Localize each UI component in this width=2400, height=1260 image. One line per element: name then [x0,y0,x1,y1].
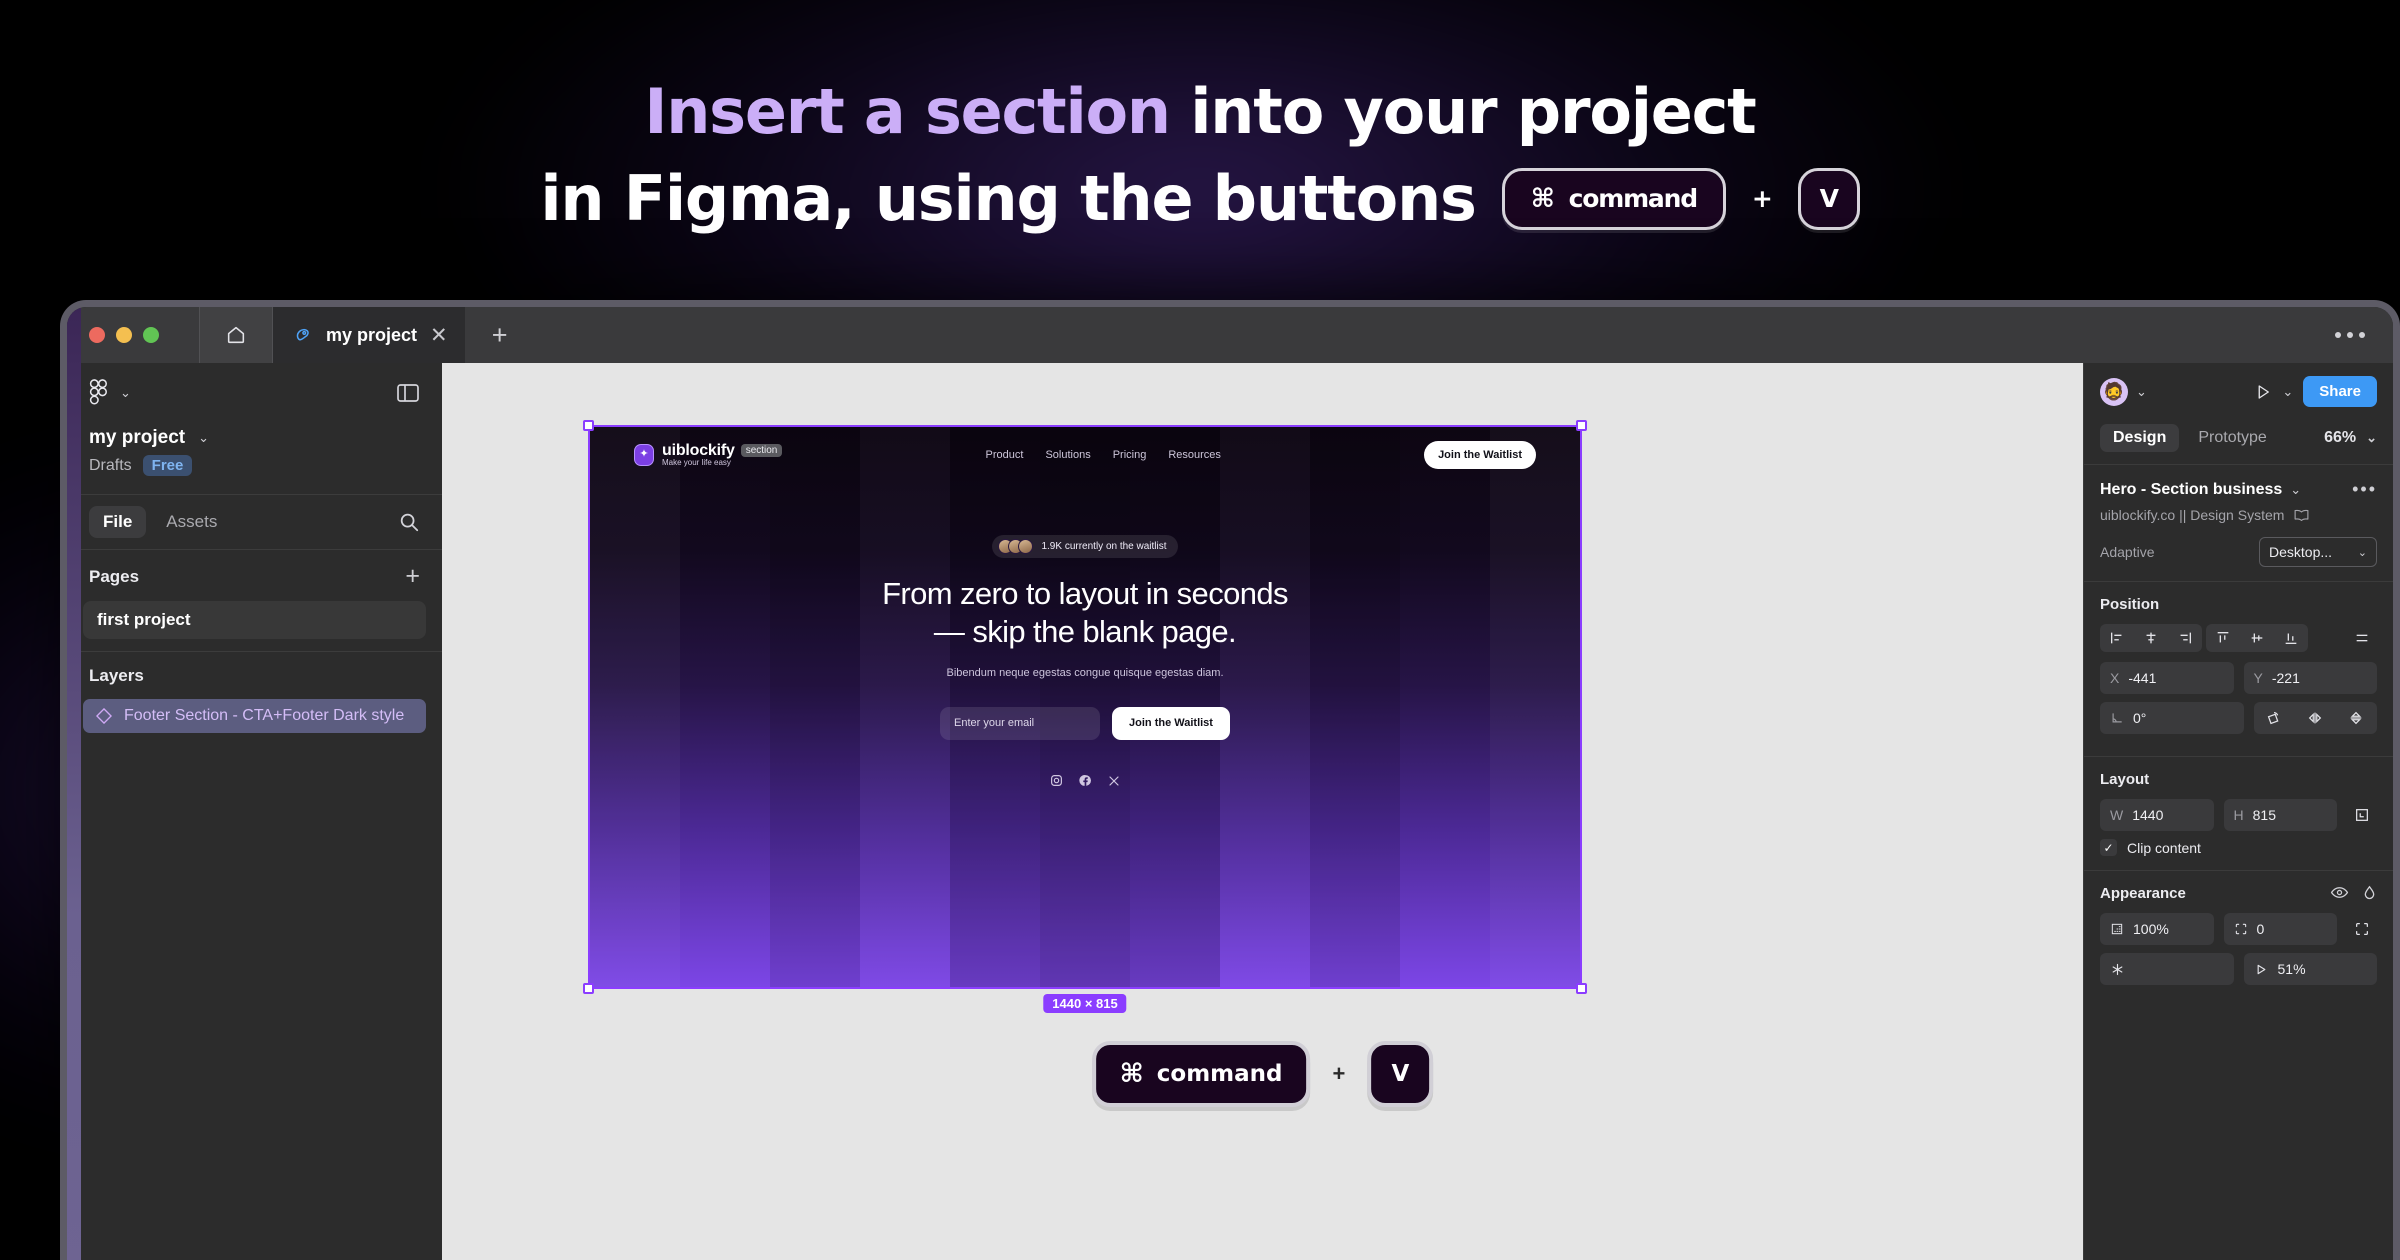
avatar: 🧔 [2100,378,2128,406]
distribute-icon[interactable] [2347,624,2377,652]
hero-kbd-command-label: command [1569,182,1697,216]
adaptive-label: Adaptive [2100,544,2154,560]
close-icon[interactable]: ✕ [430,325,448,346]
frame-brand[interactable]: ✦ uiblockify section Make your life easy [634,442,782,469]
drafts-label: Drafts [89,457,132,475]
position-section: Position [2084,582,2393,756]
waitlist-pill: 1.9K currently on the waitlist [992,535,1177,558]
clip-content-row[interactable]: ✓ Clip content [2100,839,2377,856]
appearance-header: Appearance [2100,885,2377,902]
resize-handle-bottom-right[interactable] [1576,983,1587,994]
effects-icon [2254,962,2269,977]
nav-link-pricing[interactable]: Pricing [1113,449,1147,461]
adaptive-row: Adaptive Desktop... ⌄ [2100,537,2377,567]
corner-radius-icon [2234,922,2248,936]
frame-social-links [590,774,1580,792]
headline-line-1: Insert a section into your project [0,70,2400,153]
height-value: 815 [2253,807,2276,823]
add-page-button[interactable]: + [405,564,420,589]
x-icon[interactable] [1108,774,1120,792]
x-value: -441 [2128,670,2156,686]
appearance-section: Appearance 100% 0 [2084,871,2393,1007]
frame-headline-line1: From zero to layout in seconds [882,576,1288,611]
app-body: ⌄ my project ⌄ Drafts Free [67,363,2393,1260]
layout-section: Layout W 1440 H 815 [2084,757,2393,870]
new-tab-button[interactable]: + [465,307,535,363]
more-horizontal-icon[interactable] [2307,307,2393,363]
hero-kbd-plus: + [1752,182,1772,216]
chevron-down-icon: ⌄ [120,385,131,401]
clip-content-checkbox[interactable]: ✓ [2100,839,2117,856]
blend-drop-icon[interactable] [2362,885,2377,902]
zoom-level: 66% [2324,429,2356,447]
rotation-row: 0° [2100,702,2377,734]
rotation-field[interactable]: 0° [2100,702,2244,734]
align-toolbar [2100,624,2377,652]
adaptive-value: Desktop... [2269,544,2332,560]
opacity-row: 100% 0 [2100,913,2377,945]
frame-nav-cta-button[interactable]: Join the Waitlist [1424,441,1536,469]
appearance-actions [2330,885,2377,902]
headline-accent: Insert a section [644,75,1170,148]
titlebar-spacer [535,307,2307,363]
position-title: Position [2100,596,2377,613]
project-meta: Drafts Free [89,455,420,476]
opacity-field[interactable]: 100% [2100,913,2214,945]
zoom-control[interactable]: 66% ⌄ [2324,429,2377,447]
frame-size-badge: 1440 × 815 [1043,994,1126,1013]
waitlist-avatars [998,539,1033,554]
window-titlebar: my project ✕ + [67,307,2393,363]
figma-logo-icon [89,379,109,407]
blend-mode-field[interactable] [2100,953,2234,985]
layer-label: Footer Section - CTA+Footer Dark style [124,707,404,725]
play-icon[interactable] [2254,383,2272,401]
frame-nav-links: Product Solutions Pricing Resources [782,449,1424,461]
y-value: -221 [2272,670,2300,686]
frame-headline-line2: — skip the blank page. [934,614,1236,649]
eye-icon[interactable] [2330,885,2349,900]
frame-navbar: ✦ uiblockify section Make your life easy [590,427,1580,483]
canvas-kbd-command[interactable]: ⌘ command [1092,1041,1311,1107]
waitlist-count-label: 1.9K currently on the waitlist [1041,541,1166,552]
headline-line-2: in Figma, using the buttons ⌘ command + … [0,157,2400,240]
height-field[interactable]: H 815 [2224,799,2338,831]
brand-row: uiblockify section [662,442,782,460]
project-info: my project ⌄ Drafts Free [67,419,442,494]
hero-section-frame[interactable]: ✦ uiblockify section Make your life easy [590,427,1580,987]
width-field[interactable]: W 1440 [2100,799,2214,831]
corner-radius-field[interactable]: 0 [2224,913,2338,945]
brand-name: uiblockify [662,442,735,460]
chevron-down-icon: ⌄ [2136,384,2147,400]
figma-file-icon [293,325,313,345]
resize-handle-top-left[interactable] [583,420,594,431]
chevron-down-icon: ⌄ [2358,546,2367,559]
x-label: X [2110,670,2119,686]
adaptive-select[interactable]: Desktop... ⌄ [2259,537,2377,567]
width-label: W [2110,807,2123,823]
tab-file[interactable]: File [89,506,146,538]
instagram-icon[interactable] [1050,774,1063,792]
email-input[interactable]: Enter your email [940,707,1100,740]
rotation-icon [2110,711,2124,725]
tab-assets[interactable]: Assets [152,506,231,538]
canvas-kbd-v[interactable]: V [1367,1041,1433,1107]
canvas-kbd-command-label: command [1157,1061,1283,1087]
resize-to-fit-icon[interactable] [2347,799,2377,831]
resize-handle-top-right[interactable] [1576,420,1587,431]
user-menu[interactable]: 🧔 ⌄ [2100,378,2147,406]
blur-value: 51% [2278,961,2306,977]
width-value: 1440 [2132,807,2163,823]
hero-kbd-command[interactable]: ⌘ command [1502,168,1726,230]
nav-link-solutions[interactable]: Solutions [1045,449,1090,461]
canvas-kbd-v-label: V [1391,1061,1409,1087]
command-icon: ⌘ [1120,1061,1144,1087]
align-vertical-group [2206,624,2308,652]
figma-app-window: my project ✕ + ⌄ [60,300,2400,1260]
right-panel-toolbar: 🧔 ⌄ ⌄ Share [2084,363,2393,420]
frame-waitlist-form: Enter your email Join the Waitlist [590,707,1580,740]
blend-row: 51% [2100,953,2377,985]
nav-link-resources[interactable]: Resources [1168,449,1221,461]
pages-header: Pages + [67,550,442,597]
layers-header: Layers [67,652,442,694]
align-right-icon[interactable] [2168,624,2202,652]
share-button[interactable]: Share [2303,376,2377,407]
blur-field[interactable]: 51% [2244,953,2378,985]
align-top-icon[interactable] [2206,624,2240,652]
x-field[interactable]: X -441 [2100,662,2234,694]
y-field[interactable]: Y -221 [2244,662,2378,694]
wh-row: W 1440 H 815 [2100,799,2377,831]
node-header: Hero - Section business ⌄ ••• [2100,479,2377,500]
independent-corners-icon[interactable] [2347,913,2377,945]
canvas-kbd-plus: + [1333,1061,1346,1087]
transform-group [2254,702,2378,734]
sidebar-toolbar: ⌄ [67,363,442,419]
plus-icon: + [492,320,508,351]
figma-canvas[interactable]: ✦ uiblockify section Make your life easy [442,363,2083,1260]
opacity-icon [2110,922,2124,936]
xy-row: X -441 Y -221 [2100,662,2377,694]
rotation-value: 0° [2133,710,2146,726]
window-traffic-lights [67,307,199,363]
join-waitlist-button[interactable]: Join the Waitlist [1112,707,1230,740]
chevron-down-icon: ⌄ [2366,430,2377,446]
canvas-shortcut-overlay: ⌘ command + V [1092,1041,1434,1107]
node-more-icon[interactable]: ••• [2352,479,2377,500]
resize-handle-bottom-left[interactable] [583,983,594,994]
height-label: H [2234,807,2244,823]
corner-radius-value: 0 [2257,921,2265,937]
y-label: Y [2254,670,2263,686]
node-section: Hero - Section business ⌄ ••• uiblockify… [2084,465,2393,581]
sidebar-tabs: File Assets [67,495,442,549]
node-library-row[interactable]: uiblockify.co || Design System [2100,507,2377,523]
flip-vertical-icon[interactable] [2336,702,2377,734]
maximize-window-button[interactable] [143,327,159,343]
tab-label: my project [326,325,417,346]
tab-my-project[interactable]: my project ✕ [273,307,465,363]
opacity-value: 100% [2133,921,2169,937]
home-button[interactable] [200,307,272,363]
clip-content-label: Clip content [2127,840,2201,856]
pages-title: Pages [89,567,139,587]
book-icon [2293,508,2310,523]
right-panel-tabs: Design Prototype 66% ⌄ [2084,420,2393,464]
library-label: uiblockify.co || Design System [2100,507,2284,523]
close-window-button[interactable] [89,327,105,343]
align-horizontal-group [2100,624,2202,652]
right-panel: 🧔 ⌄ ⌄ Share Design Prototype 66% ⌄ [2083,363,2393,1260]
align-center-horizontal-icon[interactable] [2134,624,2168,652]
headline-line-2-text: in Figma, using the buttons [540,157,1475,240]
tab-prototype[interactable]: Prototype [2185,424,2279,452]
chevron-down-icon[interactable]: ⌄ [2282,384,2293,400]
frame-subtitle: Bibendum neque egestas congue quisque eg… [590,667,1580,679]
search-icon[interactable] [398,511,420,533]
node-name: Hero - Section business [2100,481,2282,499]
command-icon: ⌘ [1531,186,1554,212]
blend-star-icon [2110,962,2125,977]
appearance-title: Appearance [2100,885,2186,902]
brand-text: uiblockify section Make your life easy [662,442,782,469]
selected-frame-wrapper: ✦ uiblockify section Make your life easy [590,427,1580,987]
headline-rest: into your project [1170,75,1756,148]
layer-item-footer-section[interactable]: Footer Section - CTA+Footer Dark style [83,699,426,733]
brand-tag: section [741,444,783,457]
align-left-icon[interactable] [2100,624,2134,652]
hero-copy: Insert a section into your project in Fi… [0,70,2400,240]
brand-logo-icon: ✦ [634,444,654,466]
chevron-down-icon: ⌄ [198,430,209,446]
project-name-row[interactable]: my project ⌄ [89,427,420,449]
figma-menu-button[interactable]: ⌄ [89,379,131,407]
hero-kbd-v[interactable]: V [1798,168,1860,230]
align-middle-icon[interactable] [2240,624,2274,652]
left-sidebar: ⌄ my project ⌄ Drafts Free [67,363,442,1260]
frame-hero: 1.9K currently on the waitlist From zero… [590,535,1580,792]
home-icon [225,324,247,346]
layers-title: Layers [89,666,144,686]
nav-link-product[interactable]: Product [986,449,1024,461]
chevron-down-icon[interactable]: ⌄ [2290,482,2301,498]
page-item-first-project[interactable]: first project [83,601,426,639]
hero-kbd-v-label: V [1820,182,1838,216]
plan-badge[interactable]: Free [143,455,193,476]
tab-design[interactable]: Design [2100,424,2179,452]
minimize-window-button[interactable] [116,327,132,343]
project-name: my project [89,427,185,449]
brand-subtitle: Make your life easy [662,459,782,468]
frame-headline: From zero to layout in seconds — skip th… [590,575,1580,651]
component-diamond-icon [96,708,112,724]
flip-horizontal-icon[interactable] [2295,702,2336,734]
align-bottom-icon[interactable] [2274,624,2308,652]
facebook-icon[interactable] [1079,774,1092,792]
layout-title: Layout [2100,771,2377,788]
screenshot-root: Insert a section into your project in Fi… [0,0,2400,1260]
rotate-icon[interactable] [2254,702,2295,734]
panel-toggle-icon[interactable] [396,382,420,404]
